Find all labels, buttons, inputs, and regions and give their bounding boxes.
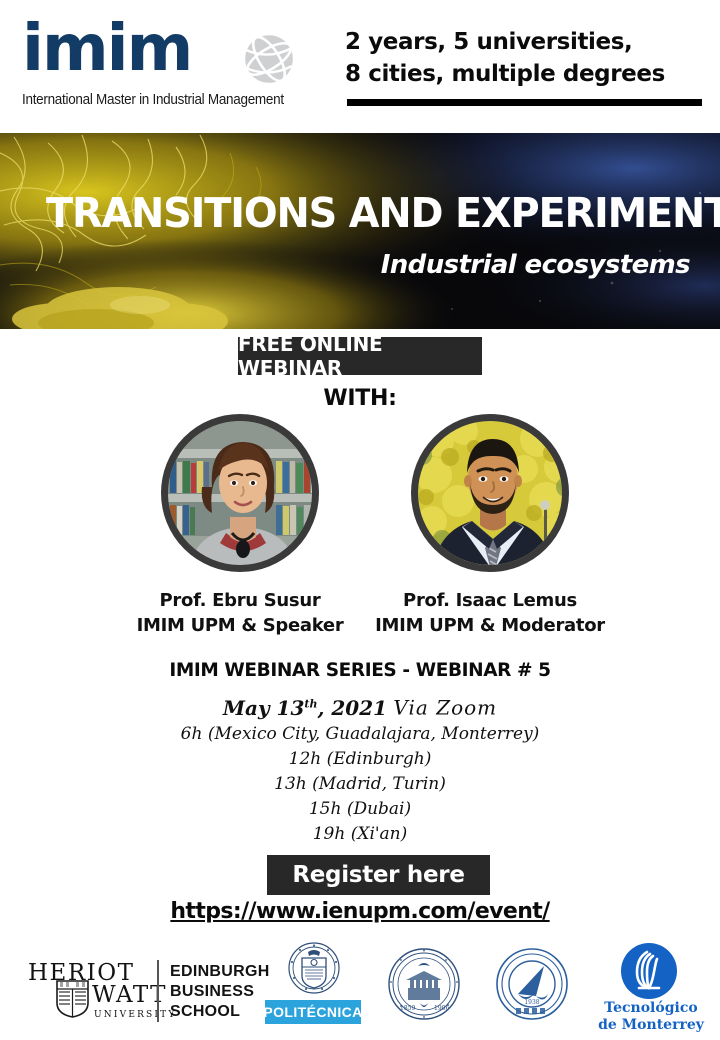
- imim-logo-subtitle: International Master in Industrial Manag…: [22, 92, 284, 108]
- svg-text:1859: 1859: [400, 1005, 415, 1012]
- northwestern-polytechnical-university-logo: 1938: [490, 938, 574, 1040]
- tagline-divider: [347, 99, 702, 106]
- globe-icon: [240, 30, 298, 88]
- svg-text:1906: 1906: [434, 1005, 449, 1012]
- schedule-block: May 13th, 2021 Via Zoom 6h (Mexico City,…: [0, 690, 720, 847]
- portrait-isaac-lemus: [418, 421, 562, 565]
- portrait-ebru-susur: [168, 421, 312, 565]
- tec-de-monterrey-text: Tecnológico de Monterrey: [598, 1000, 704, 1034]
- upm-politecnica-logo: POLITÉCNICA: [265, 938, 361, 1040]
- schedule-time: 6h (Mexico City, Guadalajara, Monterrey): [0, 722, 720, 747]
- schedule-platform: Via Zoom: [393, 696, 497, 720]
- tec-line-2: de Monterrey: [598, 1017, 704, 1034]
- ebs-line-3: SCHOOL: [170, 1002, 270, 1022]
- schedule-date-monthday: May 13: [223, 696, 305, 720]
- tecnologico-de-monterrey-logo: Tecnológico de Monterrey: [598, 938, 704, 1040]
- schedule-time: 19h (Xi'an): [0, 822, 720, 847]
- politecnico-di-torino-seal-icon: 1859 1906: [388, 948, 460, 1020]
- event-url-link[interactable]: https://www.ienupm.com/event/: [170, 899, 549, 924]
- heriot-watt-crest-icon: [56, 980, 89, 1018]
- with-label: WITH:: [0, 386, 720, 411]
- ebs-line-2: BUSINESS: [170, 982, 270, 1002]
- event-url: https://www.ienupm.com/event/: [0, 899, 720, 924]
- schedule-time: 13h (Madrid, Turin): [0, 772, 720, 797]
- schedule-date-ordinal: th: [304, 697, 317, 710]
- edinburgh-business-school-text: EDINBURGH BUSINESS SCHOOL: [170, 962, 270, 1022]
- speaker-role: IMIM UPM & Speaker: [110, 613, 370, 638]
- hero-banner: TRANSITIONS AND EXPERIMENTS Industrial e…: [0, 133, 720, 329]
- speaker-role: IMIM UPM & Moderator: [360, 613, 620, 638]
- speaker-name: Prof. Isaac Lemus: [360, 588, 620, 613]
- schedule-time: 12h (Edinburgh): [0, 747, 720, 772]
- webinar-poster: imim International Master in Industrial …: [0, 0, 720, 1040]
- tec-de-monterrey-mark-icon: [620, 942, 678, 1000]
- speaker-card-2: Prof. Isaac Lemus IMIM UPM & Moderator: [360, 414, 620, 638]
- schedule-date-year: , 2021: [317, 696, 387, 720]
- schedule-time: 15h (Dubai): [0, 797, 720, 822]
- header-tagline: 2 years, 5 universities, 8 cities, multi…: [345, 26, 705, 90]
- register-button[interactable]: Register here: [267, 855, 490, 895]
- heriot-watt-watt-text: WATT: [92, 982, 167, 1008]
- heriot-watt-logo: HERIOT WATT UNIVERSITY: [24, 938, 239, 1040]
- nwpu-seal-icon: 1938: [496, 948, 568, 1020]
- free-webinar-badge-label: FREE ONLINE WEBINAR: [238, 332, 482, 380]
- avatar: [411, 414, 569, 572]
- tagline-line-2: 8 cities, multiple degrees: [345, 58, 705, 90]
- free-webinar-badge: FREE ONLINE WEBINAR: [238, 337, 482, 375]
- ebs-line-1: EDINBURGH: [170, 962, 270, 982]
- schedule-date: May 13th, 2021 Via Zoom: [0, 690, 720, 722]
- speaker-card-1: Prof. Ebru Susur IMIM UPM & Speaker: [110, 414, 370, 638]
- tec-line-1: Tecnológico: [598, 1000, 704, 1017]
- partner-logos: HERIOT WATT UNIVERSITY: [0, 938, 720, 1040]
- banner-subtitle: Industrial ecosystems: [381, 250, 690, 280]
- imim-logo: imim International Master in Industrial …: [18, 14, 318, 114]
- avatar: [161, 414, 319, 572]
- poster-header: imim International Master in Industrial …: [0, 0, 720, 128]
- heriot-watt-university-text: UNIVERSITY: [94, 1010, 177, 1020]
- upm-seal-icon: [288, 942, 340, 994]
- speaker-name: Prof. Ebru Susur: [110, 588, 370, 613]
- register-button-label: Register here: [292, 862, 464, 888]
- svg-text:1938: 1938: [524, 999, 539, 1006]
- upm-politecnica-label: POLITÉCNICA: [263, 1004, 362, 1020]
- banner-title: TRANSITIONS AND EXPERIMENTS: [46, 189, 720, 237]
- upm-politecnica-bar: POLITÉCNICA: [265, 1000, 361, 1024]
- tagline-line-1: 2 years, 5 universities,: [345, 26, 705, 58]
- politecnico-di-torino-logo: 1859 1906: [382, 938, 466, 1040]
- imim-wordmark: imim: [22, 16, 191, 82]
- series-title: IMIM WEBINAR SERIES - WEBINAR # 5: [0, 660, 720, 681]
- heriot-watt-divider: [157, 960, 159, 1022]
